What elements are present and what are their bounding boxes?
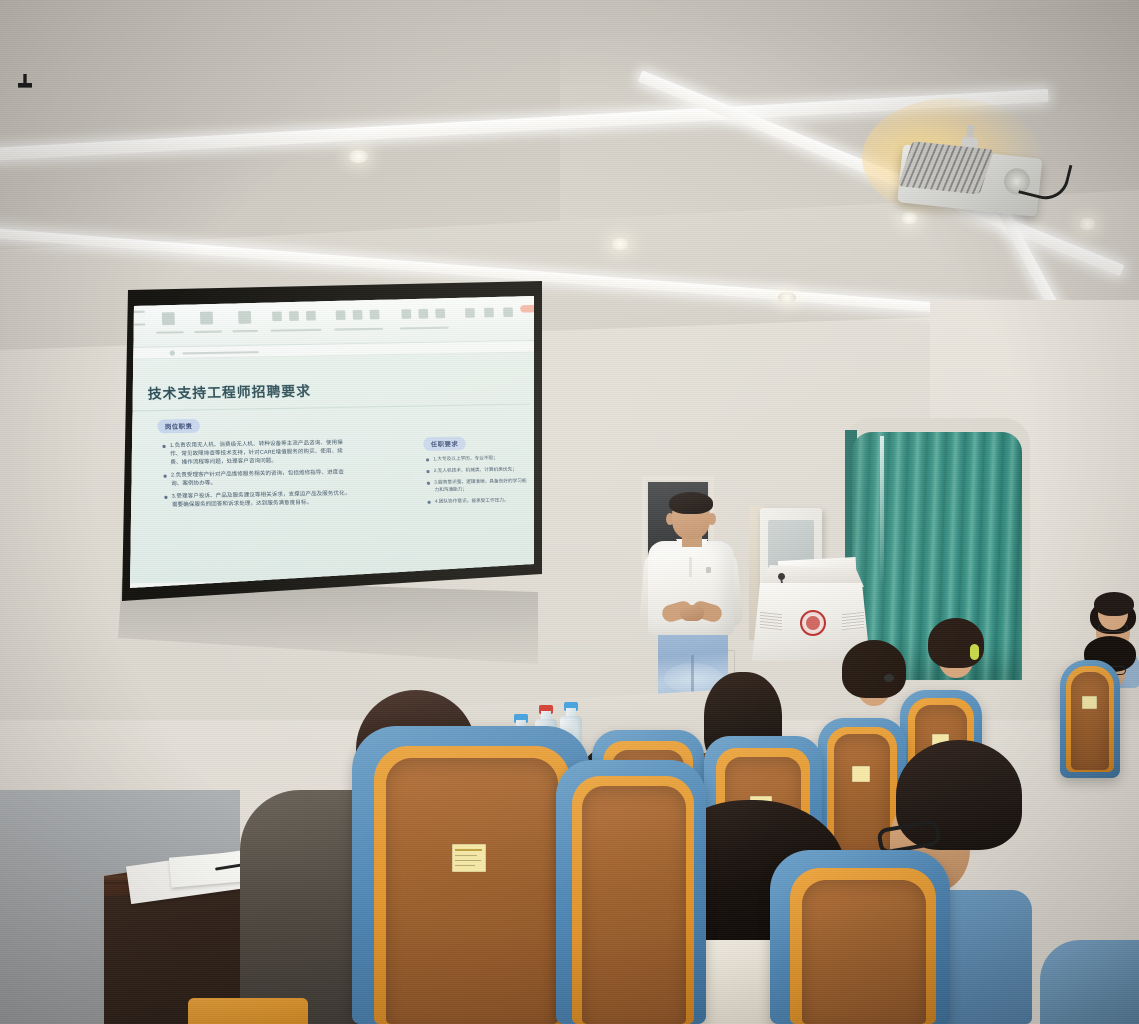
- ribbon-icon[interactable]: [200, 312, 213, 325]
- auditorium-seat[interactable]: [1060, 660, 1120, 778]
- seat-base-front[interactable]: [188, 998, 308, 1024]
- ribbon-icon[interactable]: [289, 311, 299, 321]
- auditorium-seat[interactable]: [556, 760, 706, 1024]
- ribbon-icon[interactable]: [435, 309, 445, 319]
- slide-bullet: 3.受理客户投诉、产品及服务建议等相关诉求，支撑边产品及服务优化，需要确保服务的…: [164, 490, 353, 510]
- slide-bullet: 1.负责农用无人机、消费级无人机、转种设备等主流产品咨询、使用操作、常见故障排查…: [162, 438, 352, 467]
- ribbon-icon[interactable]: [162, 312, 175, 325]
- slide-bullet: 4.团队协作意识，能承受工作压力。: [427, 496, 529, 505]
- ribbon-icon[interactable]: [306, 311, 316, 321]
- wps-presentation-window[interactable]: WPS 开始 插入 设计 切换 动画 放映 审阅 视图: [130, 296, 534, 588]
- presenter-clasped-hands: [680, 605, 704, 621]
- slide-badge-responsibilities: 岗位职责: [157, 419, 200, 434]
- lectern-vent-left: [760, 612, 782, 630]
- projector-vent-grille: [898, 141, 994, 194]
- slide-bullet: 1.大专及以上学历，专业不限；: [426, 453, 528, 462]
- bullet-dot-icon: [428, 501, 431, 504]
- bullet-dot-icon: [163, 475, 166, 478]
- ceiling-downlight: [778, 292, 796, 303]
- slide-bullet-text: 3.受理客户投诉、产品及服务建议等相关诉求，支撑边产品及服务优化，需要确保服务的…: [172, 490, 354, 510]
- hair-tie-icon: [884, 674, 894, 682]
- bullet-dot-icon: [426, 458, 429, 461]
- seat-pad: [582, 786, 686, 1024]
- seat-pad: [802, 880, 926, 1024]
- ribbon-icon[interactable]: [353, 310, 363, 320]
- projection-screen-surface[interactable]: WPS 开始 插入 设计 切换 动画 放映 审阅 视图: [130, 296, 534, 588]
- seat-number-label: [1082, 696, 1097, 709]
- polo-logo-icon: [706, 567, 711, 573]
- slide-bullet: 2.无人机技术、机械类、计算机类优先；: [426, 465, 528, 474]
- ceiling-downlight: [348, 150, 369, 163]
- seat-number-label: [452, 844, 486, 872]
- ribbon-icon[interactable]: [272, 311, 282, 321]
- seat-tag-line: [455, 860, 481, 861]
- curtain-highlight: [880, 436, 884, 586]
- search-icon[interactable]: [170, 350, 175, 355]
- ribbon-icon[interactable]: [401, 309, 411, 319]
- seat-pad: [386, 758, 558, 1024]
- seat-tag-line: [455, 865, 475, 866]
- search-placeholder: [182, 351, 258, 354]
- ribbon-icon[interactable]: [238, 311, 251, 324]
- ribbon-icon[interactable]: [503, 307, 513, 317]
- microphone-head-icon: [778, 573, 785, 580]
- ribbon-icon[interactable]: [484, 308, 494, 318]
- ceiling-downlight: [1078, 218, 1097, 230]
- share-button-icon[interactable]: [520, 305, 534, 313]
- seat-tag-line: [455, 855, 477, 856]
- hair-clip-icon: [970, 644, 979, 660]
- ribbon-label: [400, 327, 449, 330]
- slide-bullet-text: 4.团队协作意识，能承受工作压力。: [435, 496, 509, 505]
- seat-pad: [1071, 672, 1109, 770]
- ribbon-label: [232, 330, 258, 333]
- ribbon-label: [334, 328, 383, 331]
- slide-bullet-text: 1.负责农用无人机、消费级无人机、转种设备等主流产品咨询、使用操作、常见故障排查…: [170, 438, 352, 467]
- attendee-hair: [1094, 592, 1134, 616]
- ribbon-label: [271, 329, 322, 332]
- ceiling-projector: [896, 132, 1053, 225]
- seat-number-label: [852, 766, 870, 782]
- slide-title: 技术支持工程师招聘要求: [147, 380, 311, 403]
- slide-badge-requirements: 任职要求: [423, 436, 466, 451]
- ribbon-icon[interactable]: [336, 310, 346, 320]
- slide-bullet-text: 1.大专及以上学历，专业不限；: [433, 454, 498, 463]
- slide-responsibilities-column: 1.负责农用无人机、消费级无人机、转种设备等主流产品咨询、使用操作、常见故障排查…: [162, 438, 353, 514]
- bullet-dot-icon: [162, 445, 165, 448]
- ribbon-label: [156, 331, 184, 334]
- ceiling-downlight: [610, 238, 630, 250]
- seat-tag-line: [455, 849, 482, 851]
- attendee-hair: [928, 618, 984, 668]
- slide-bullet-text: 3.服务意识强，逻辑清晰，具备良好的学习能力和沟通能力；: [434, 477, 529, 494]
- slide-bullet: 3.服务意识强，逻辑清晰，具备良好的学习能力和沟通能力；: [427, 477, 529, 494]
- ribbon-icon[interactable]: [465, 308, 475, 318]
- ribbon-icon[interactable]: [370, 310, 380, 320]
- slide-bullet-text: 2.无人机技术、机械类、计算机类优先；: [434, 465, 517, 474]
- auditorium-seat[interactable]: [770, 850, 950, 1024]
- ribbon-icon[interactable]: [418, 309, 428, 319]
- lecture-hall-photo: WPS 开始 插入 设计 切换 动画 放映 审阅 视图: [0, 0, 1139, 1024]
- bullet-dot-icon: [164, 496, 167, 499]
- slide-bullet-text: 2.负责受理客户针对产品维修服务相关的咨询，包括维修指导、进度查询、案例协办等。: [171, 468, 353, 488]
- school-crest-inner-icon: [806, 616, 820, 630]
- auditorium-seat[interactable]: [352, 726, 590, 1024]
- ceiling-downlight: [900, 212, 919, 224]
- slide-bullet: 2.负责受理客户针对产品维修服务相关的咨询，包括维修指导、进度查询、案例协办等。: [163, 468, 352, 488]
- slide-requirements-column: 1.大专及以上学历，专业不限； 2.无人机技术、机械类、计算机类优先； 3.服务…: [426, 453, 530, 509]
- lectern-vent-right: [842, 612, 864, 630]
- presenter-hair: [669, 492, 713, 514]
- attendee-hair: [842, 640, 906, 698]
- ribbon-label: [194, 331, 222, 334]
- bullet-dot-icon: [426, 470, 429, 473]
- slide-canvas[interactable]: 技术支持工程师招聘要求 岗位职责 任职要求 1.负责农用无人机、消费级无人机、转…: [130, 352, 534, 582]
- attendee-torso: [1040, 940, 1139, 1024]
- bullet-dot-icon: [427, 482, 430, 485]
- attendee-bottom-right: [1040, 940, 1139, 1024]
- slide-title-underline: [130, 404, 530, 412]
